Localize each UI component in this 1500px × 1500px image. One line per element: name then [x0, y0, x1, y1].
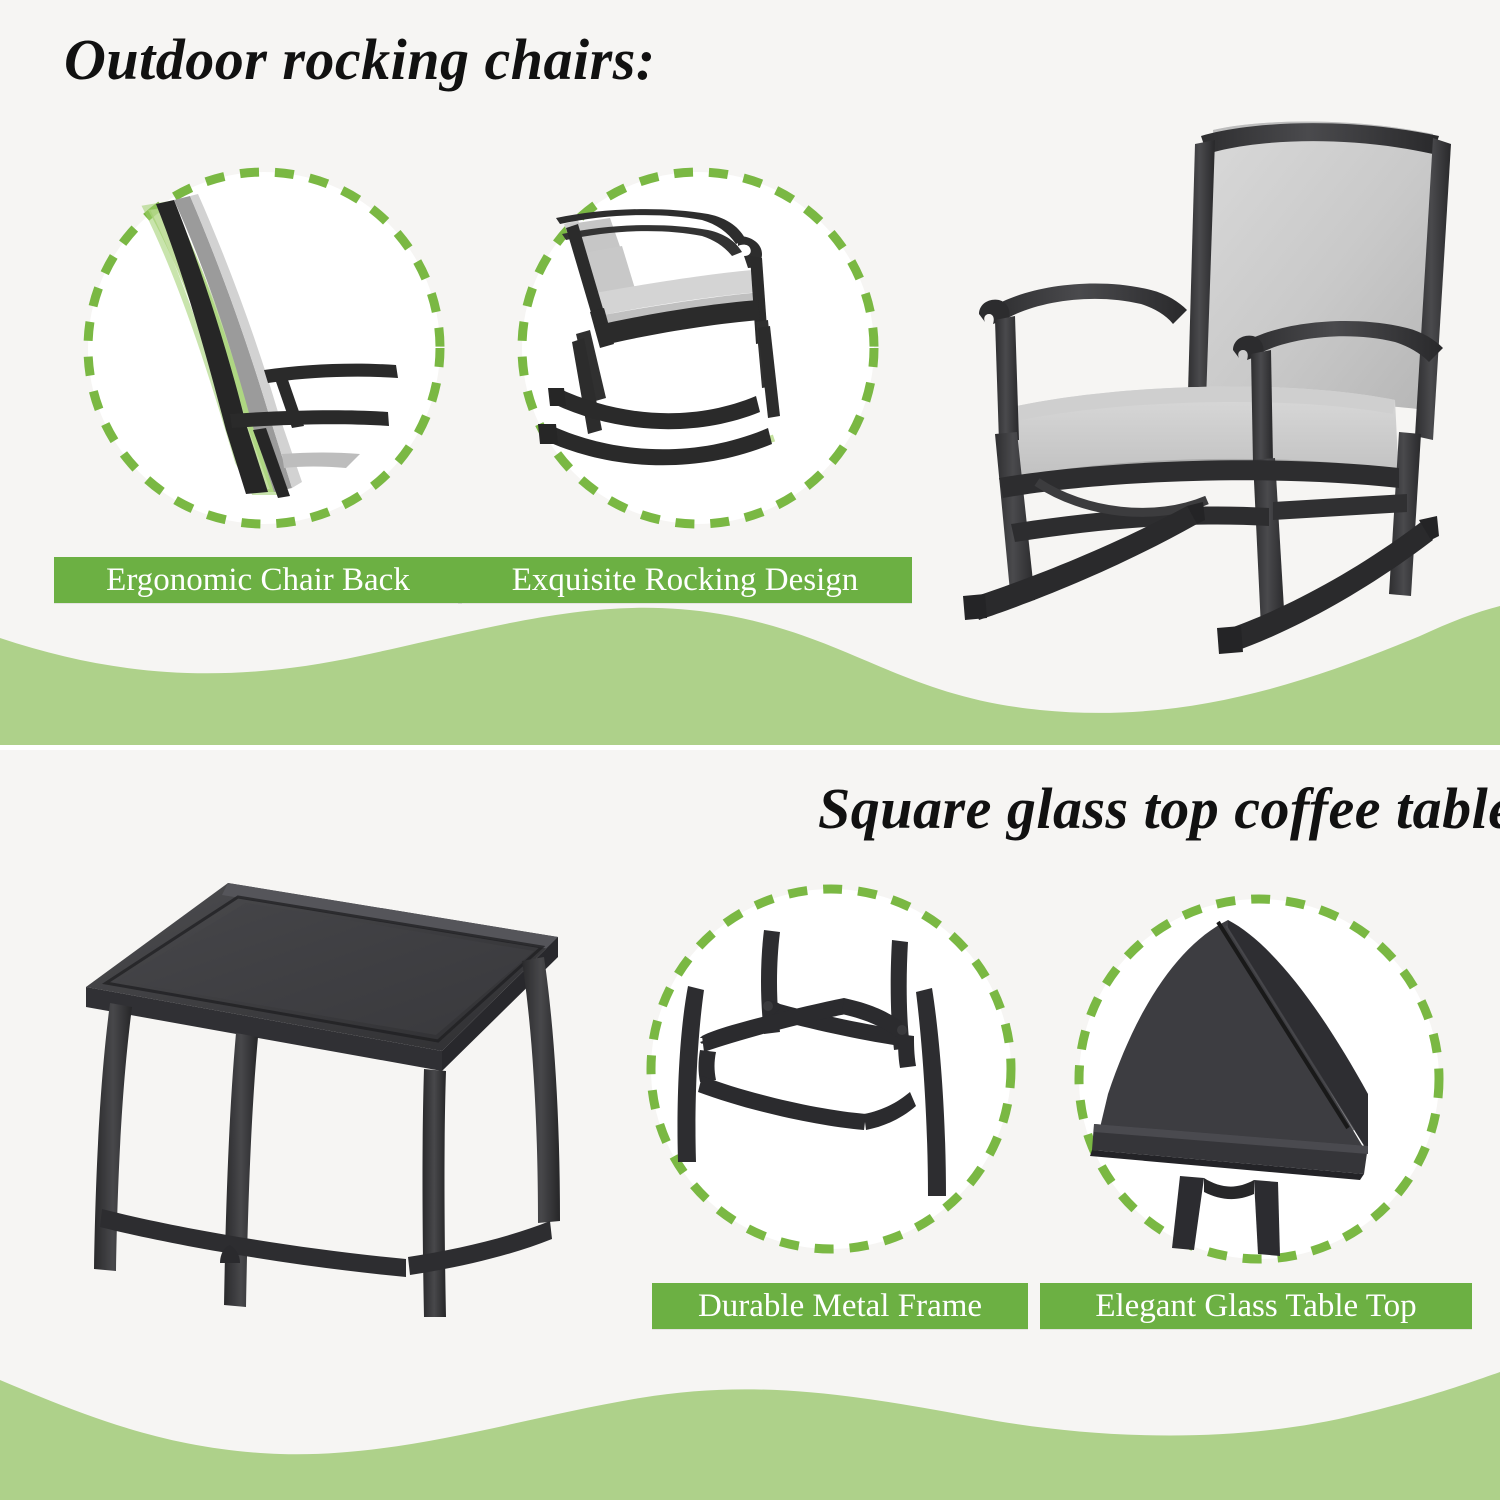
label-durable-metal-frame: Durable Metal Frame: [652, 1283, 1028, 1329]
page-title-rocking-chairs: Outdoor rocking chairs:: [64, 26, 656, 93]
square-glass-coffee-table-photo: [50, 865, 590, 1330]
outdoor-rocking-chair-photo: [955, 110, 1465, 680]
detail-circle-ergonomic-chair-back: [78, 162, 450, 534]
section-divider: [0, 745, 1500, 750]
detail-circle-rocking-design: [512, 162, 884, 534]
page-title-coffee-table: Square glass top coffee table:: [818, 775, 1500, 842]
label-exquisite-rocking-design: Exquisite Rocking Design: [458, 557, 912, 603]
detail-circle-elegant-glass-table-top: [1068, 888, 1450, 1270]
label-ergonomic-chair-back: Ergonomic Chair Back: [54, 557, 462, 603]
detail-circle-durable-metal-frame: [640, 878, 1022, 1260]
label-elegant-glass-table-top: Elegant Glass Table Top: [1040, 1283, 1472, 1329]
